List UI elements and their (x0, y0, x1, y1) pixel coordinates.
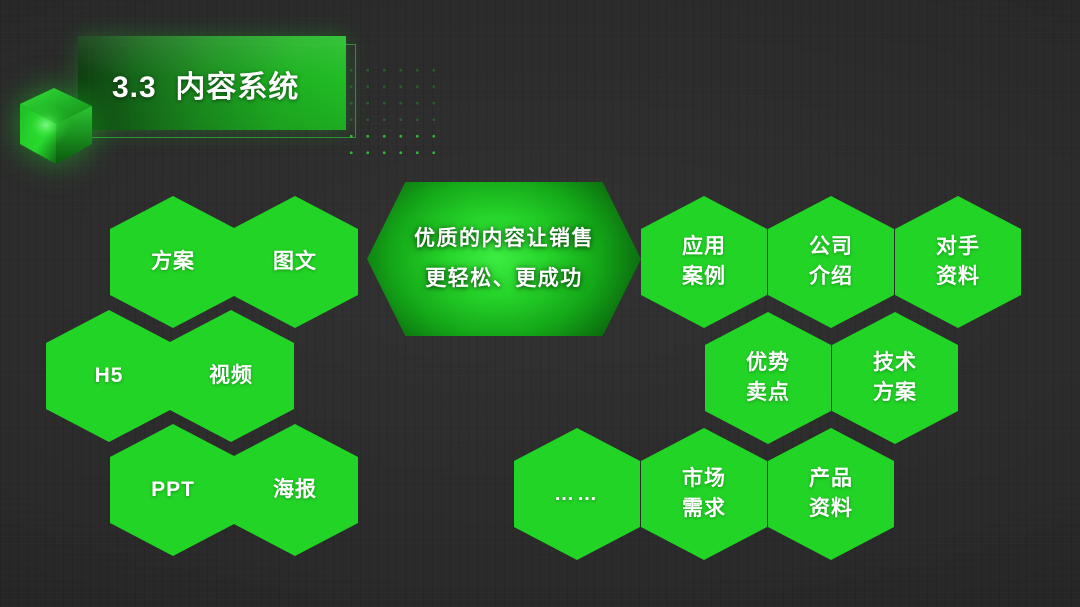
hexagon-label-line-1: 对手 (936, 232, 980, 262)
hexagon-label-line-2: 需求 (682, 494, 726, 524)
hexagon-ellipsis[interactable]: …… (514, 428, 640, 560)
hexagon-ppt[interactable]: PPT (110, 424, 236, 556)
hexagon-shipin[interactable]: 视频 (168, 310, 294, 442)
cube-3d-icon (12, 82, 96, 168)
hexagon-h5[interactable]: H5 (46, 310, 172, 442)
hexagon-duishou-ziliao[interactable]: 对手资料 (895, 196, 1021, 328)
hexagon-label-line-2: 案例 (682, 262, 726, 292)
hexagon-label-line-1: 视频 (209, 361, 253, 391)
hexagon-haibao[interactable]: 海报 (232, 424, 358, 556)
hexagon-label-line-2: 介绍 (809, 262, 853, 292)
hexagon-label-line-1: 市场 (682, 464, 726, 494)
hexagon-fangan[interactable]: 方案 (110, 196, 236, 328)
hexagon-label-line-1: 海报 (273, 475, 317, 505)
hexagon-label-line-1: 公司 (809, 232, 853, 262)
hexagon-label-line-2: 方案 (873, 378, 917, 408)
hexagon-label-line-1: 技术 (873, 348, 917, 378)
hexagon-gongsi-jieshao[interactable]: 公司介绍 (768, 196, 894, 328)
callout-line-1: 优质的内容让销售 (414, 219, 594, 259)
hexagon-youshi-maidian[interactable]: 优势卖点 (705, 312, 831, 444)
hexagon-tuwen[interactable]: 图文 (232, 196, 358, 328)
hexagon-label-line-1: 优势 (746, 348, 790, 378)
hexagon-label-line-1: 应用 (682, 232, 726, 262)
hexagon-label-line-2: 卖点 (746, 378, 790, 408)
hexagon-label-line-1: …… (554, 480, 600, 509)
hexagon-label-line-2: 资料 (809, 494, 853, 524)
hexagon-label-line-1: 产品 (809, 464, 853, 494)
hexagon-shichang-xuqiu[interactable]: 市场需求 (641, 428, 767, 560)
callout-line-2: 更轻松、更成功 (425, 259, 583, 299)
hexagon-chanpin-ziliao[interactable]: 产品资料 (768, 428, 894, 560)
hexagon-label-line-1: PPT (151, 475, 195, 505)
slide-canvas: 3.3 内容系统 优质的内容让销售 更轻松、更成功 方案图文H5视频PPT海报应… (0, 0, 1080, 607)
page-title: 3.3 内容系统 (112, 34, 372, 134)
hexagon-label-line-1: H5 (95, 361, 124, 391)
hexagon-yingyong-anli[interactable]: 应用案例 (641, 196, 767, 328)
hexagon-label-line-1: 图文 (273, 247, 317, 277)
hexagon-label-line-1: 方案 (151, 247, 195, 277)
hexagon-jishu-fangan[interactable]: 技术方案 (832, 312, 958, 444)
center-callout-hexagon[interactable]: 优质的内容让销售 更轻松、更成功 (367, 182, 641, 336)
hexagon-label-line-2: 资料 (936, 262, 980, 292)
